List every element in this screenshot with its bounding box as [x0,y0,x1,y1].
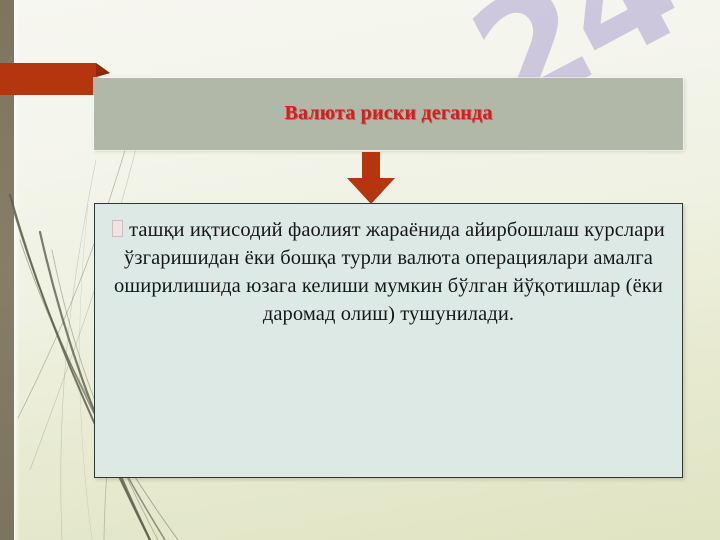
bullet-missing-glyph-icon [112,220,123,237]
down-arrow-icon [345,152,397,204]
body-paragraph: ташқи иқтисодий фаолият жараёнида айирбо… [111,216,666,328]
body-content: ташқи иқтисодий фаолият жараёнида айирбо… [95,204,682,477]
title-box: Валюта риски деганда [94,78,683,150]
slide-canvas: 24 Н Валюта риски деганда ташқи иқтисоди… [0,0,720,540]
body-paragraph-text: ташқи иқтисодий фаолият жараёнида айирбо… [114,219,665,325]
slide-title: Валюта риски деганда [284,102,492,125]
body-box: ташқи иқтисодий фаолият жараёнида айирбо… [94,203,683,478]
